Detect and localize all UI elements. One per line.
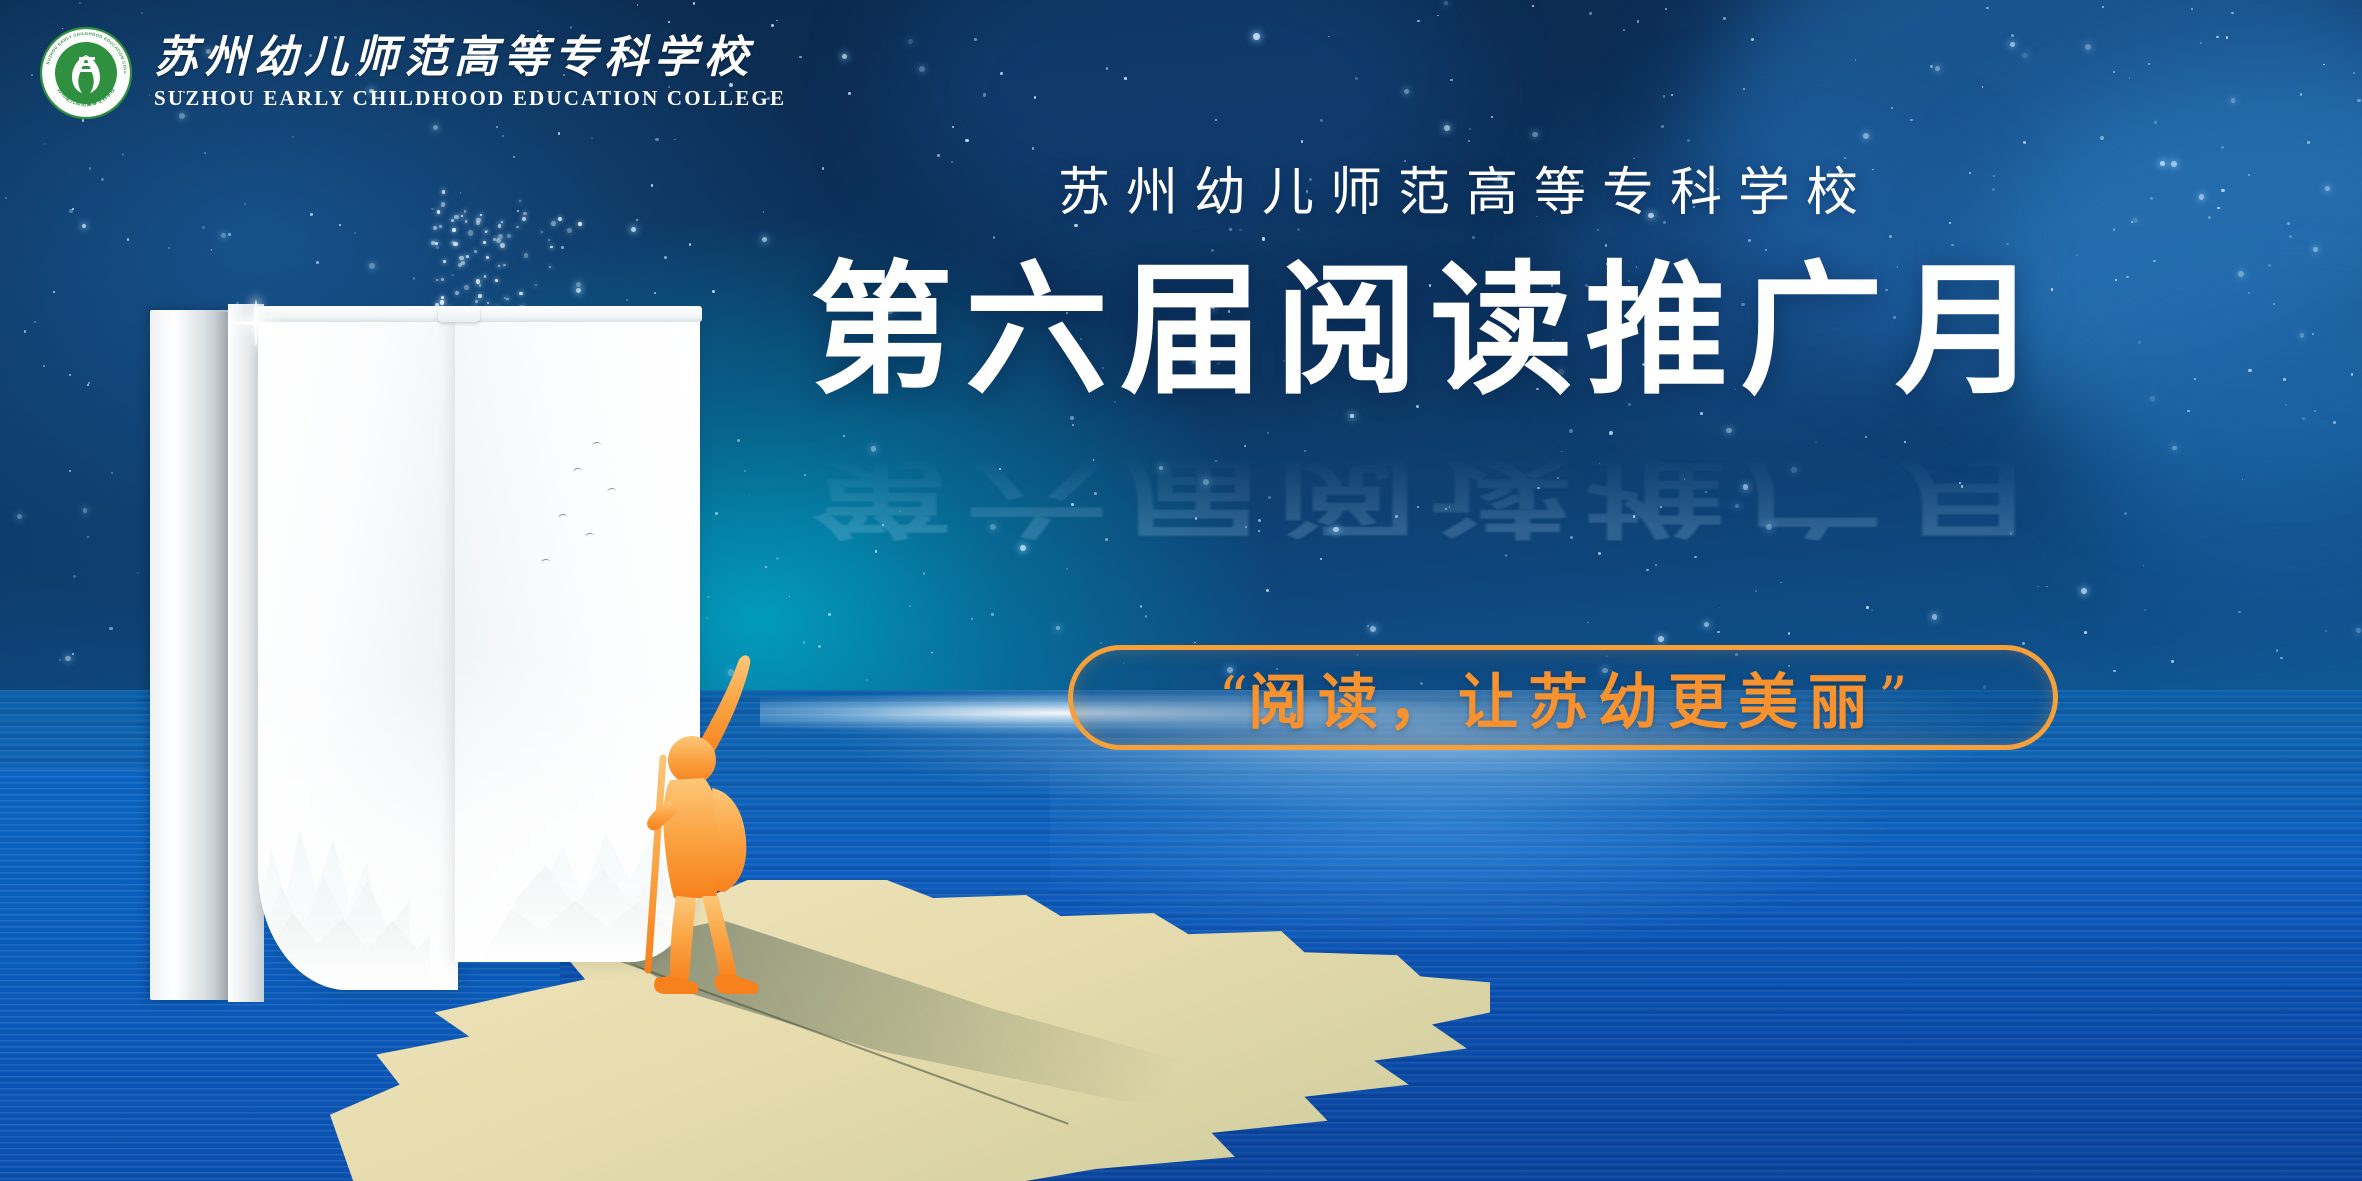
star-dot (636, 219, 638, 221)
star-dot (2356, 628, 2361, 633)
star-dot (1599, 463, 1601, 465)
sparkle-particle (464, 285, 469, 290)
star-dot (974, 38, 976, 40)
star-dot (204, 152, 206, 154)
star-dot (1910, 119, 1913, 122)
star-dot (59, 659, 61, 661)
star-dot (1159, 466, 1163, 470)
star-dot (2231, 12, 2234, 15)
bird-icon (592, 441, 601, 446)
star-dot (2323, 64, 2325, 66)
star-dot (2191, 8, 2193, 10)
sparkle-particle (437, 210, 441, 214)
star-dot (1537, 487, 1540, 490)
bird-icon (585, 532, 594, 537)
sparkle-particle (524, 253, 528, 257)
star-dot (971, 618, 973, 620)
star-dot (1367, 625, 1369, 627)
star-dot (1569, 429, 1573, 433)
star-dot (436, 246, 439, 249)
star-dot (1215, 460, 1217, 462)
star-dot (53, 291, 55, 293)
star-dot (1863, 133, 1869, 139)
sparkle-particle (454, 215, 459, 220)
star-dot (1663, 95, 1666, 98)
sparkle-particle (567, 228, 572, 233)
star-dot (2333, 421, 2336, 424)
star-dot (1609, 431, 1613, 435)
star-dot (1505, 554, 1508, 557)
star-dot (1140, 605, 1143, 608)
sparkle-particle (548, 239, 550, 241)
star-dot (1671, 94, 1673, 96)
star-dot (1444, 1, 1449, 6)
star-dot (1871, 609, 1873, 611)
star-dot (1637, 20, 1640, 23)
sparkle-particle (441, 296, 444, 299)
star-dot (1532, 5, 1534, 7)
star-dot (1982, 86, 1984, 88)
star-dot (1815, 441, 1818, 444)
star-dot (1105, 538, 1108, 541)
sparkle-particle (461, 261, 466, 266)
star-dot (776, 557, 779, 560)
star-dot (631, 227, 636, 232)
star-dot (2200, 42, 2203, 45)
star-dot (354, 232, 357, 235)
sparkle-particle (442, 190, 446, 194)
logo-name-en: SUZHOU EARLY CHILDHOOD EDUCATION COLLEGE (154, 86, 786, 111)
sparkle-particle (436, 279, 439, 282)
star-dot (749, 494, 751, 496)
star-dot (1094, 492, 1097, 495)
sparkle-particle (500, 243, 505, 248)
star-dot (1665, 8, 1667, 10)
sparkle-particle (455, 291, 459, 295)
sparkle-particle (498, 265, 500, 267)
star-dot (1780, 582, 1782, 584)
star-dot (882, 524, 884, 526)
star-dot (17, 514, 22, 519)
star-dot (674, 139, 676, 141)
star-dot (2242, 479, 2244, 481)
star-dot (923, 572, 925, 574)
star-dot (2325, 186, 2330, 191)
star-dot (122, 153, 125, 156)
star-dot (1301, 140, 1303, 142)
star-dot (1866, 606, 1869, 609)
sparkle-particle (498, 224, 501, 227)
star-dot (654, 292, 656, 294)
star-dot (413, 277, 416, 280)
sparkle-particle (468, 230, 473, 235)
star-dot (2314, 410, 2316, 412)
sparkle-particle (519, 200, 521, 202)
tagline-pill: “ 阅读，让苏幼更美丽 ” (1068, 645, 2058, 750)
star-dot (763, 211, 765, 213)
star-dot (2010, 42, 2015, 47)
sparkle-particle (478, 294, 482, 298)
star-dot (558, 132, 561, 135)
star-dot (848, 92, 851, 95)
star-dot (1445, 508, 1447, 510)
star-dot (1469, 128, 1471, 130)
star-dot (952, 126, 954, 128)
star-dot (69, 209, 73, 213)
star-dot (1333, 527, 1338, 532)
star-dot (1093, 459, 1095, 461)
star-dot (2124, 512, 2127, 515)
star-dot (1935, 66, 1940, 71)
star-dot (1633, 515, 1636, 518)
sparkle-particle (465, 220, 468, 223)
star-dot (1561, 451, 1563, 453)
sparkle-particle (485, 230, 488, 233)
star-dot (991, 613, 994, 616)
star-dot (1705, 491, 1707, 493)
star-dot (2238, 611, 2240, 613)
star-dot (804, 474, 806, 476)
sparkle-particle (535, 284, 537, 286)
star-dot (1320, 119, 1323, 122)
star-dot (803, 641, 806, 644)
star-dot (1788, 632, 1790, 634)
star-dot (2113, 71, 2115, 73)
sparkle-particle (495, 279, 498, 282)
sparkle-particle (486, 256, 489, 259)
logo-wordmark: 苏州幼儿师范高等专科学校 SUZHOU EARLY CHILDHOOD EDUC… (154, 35, 786, 110)
star-dot (88, 382, 90, 384)
star-dot (1986, 7, 1988, 9)
star-dot (875, 550, 878, 553)
star-dot (2129, 77, 2131, 79)
star-dot (1449, 506, 1451, 508)
star-dot (693, 2, 696, 5)
star-dot (1034, 96, 1036, 98)
sparkle-particle (496, 238, 501, 243)
star-dot (79, 2, 81, 4)
star-dot (899, 510, 902, 513)
star-dot (744, 470, 746, 472)
star-dot (1320, 558, 1322, 560)
star-dot (1194, 642, 1196, 644)
star-dot (2353, 72, 2355, 74)
reading-promotion-banner: SUZHOU EARLY CHILDHOOD EDUCATION COLLEGE… (0, 0, 2362, 1181)
star-dot (919, 66, 925, 72)
star-dot (1145, 615, 1147, 617)
sparkle-particle (523, 212, 527, 216)
star-dot (1072, 424, 1074, 426)
sparkle-star-icon (255, 322, 257, 324)
star-dot (2307, 141, 2310, 144)
star-dot (244, 203, 246, 205)
star-dot (137, 572, 139, 574)
sparkle-particle (578, 222, 583, 227)
sparkle-particle (443, 260, 446, 263)
star-dot (576, 288, 582, 294)
star-dot (34, 321, 36, 323)
star-dot (2143, 565, 2145, 567)
sparkle-particle (441, 202, 446, 207)
sparkle-particle (439, 225, 442, 228)
star-dot (2010, 532, 2013, 535)
star-dot (990, 524, 996, 530)
star-dot (1437, 15, 1439, 17)
star-dot (1355, 77, 1358, 80)
star-dot (2154, 121, 2157, 124)
star-dot (2148, 63, 2150, 65)
star-dot (1694, 556, 1697, 559)
star-dot (2085, 44, 2091, 50)
star-dot (1244, 445, 1246, 447)
sparkle-particle (522, 217, 527, 222)
star-dot (689, 243, 691, 245)
star-dot (2084, 631, 2087, 634)
star-dot (1704, 622, 1709, 627)
star-dot (69, 470, 71, 472)
star-dot (909, 605, 911, 607)
star-dot (651, 184, 653, 186)
star-dot (1258, 530, 1260, 532)
star-dot (712, 290, 715, 293)
star-dot (1253, 33, 1260, 40)
star-dot (1056, 626, 1061, 631)
star-dot (2172, 446, 2177, 451)
star-dot (141, 12, 143, 14)
star-dot (561, 246, 564, 249)
sparkle-particle (466, 255, 469, 258)
star-dot (2023, 141, 2026, 144)
star-dot (762, 237, 767, 242)
sparkle-particle (431, 241, 435, 245)
star-dot (1350, 414, 1354, 418)
sparkle-particle (483, 241, 486, 244)
star-dot (433, 125, 438, 130)
star-dot (1020, 545, 1026, 551)
sparkle-particle (458, 263, 462, 267)
star-dot (1258, 519, 1261, 522)
star-dot (2081, 588, 2087, 594)
star-dot (202, 226, 205, 229)
star-dot (1404, 89, 1409, 94)
logo-name-cn: 苏州幼儿师范高等专科学校 (154, 35, 786, 81)
hiker-silhouette-icon (620, 640, 800, 1020)
star-dot (2046, 586, 2048, 588)
star-dot (1417, 506, 1419, 508)
star-dot (1450, 79, 1453, 82)
sparkle-particle (507, 234, 511, 238)
star-dot (871, 446, 877, 452)
star-dot (1587, 622, 1589, 624)
book-left-page (258, 318, 458, 990)
bird-icon (558, 513, 567, 518)
star-dot (89, 167, 92, 170)
star-dot (576, 282, 581, 287)
star-dot (310, 213, 312, 215)
star-dot (2300, 93, 2303, 96)
star-dot (818, 645, 821, 648)
star-dot (1557, 477, 1559, 479)
sparkle-particle (541, 231, 543, 233)
star-dot (1304, 450, 1306, 452)
star-dot (87, 536, 89, 538)
star-dot (2144, 609, 2146, 611)
sparkle-particle (501, 221, 503, 223)
sparkle-particle (459, 256, 464, 261)
tagline-text: 阅读，让苏幼更美丽 (1248, 654, 1878, 741)
star-dot (109, 627, 113, 631)
star-dot (2351, 373, 2353, 375)
star-dot (983, 93, 987, 97)
sparkle-particle (550, 246, 553, 249)
star-dot (517, 210, 519, 212)
star-dot (965, 139, 968, 142)
star-dot (2280, 657, 2283, 660)
sparkle-particle (493, 238, 496, 241)
star-dot (1070, 416, 1074, 420)
star-dot (127, 238, 130, 241)
sparkle-particle (504, 297, 507, 300)
star-dot (2221, 146, 2224, 149)
star-dot (2100, 136, 2104, 140)
star-dot (1687, 139, 1690, 142)
college-logo[interactable]: SUZHOU EARLY CHILDHOOD EDUCATION COLLEGE… (38, 25, 786, 121)
star-dot (1751, 38, 1754, 41)
star-dot (828, 613, 831, 616)
star-dot (1961, 485, 1963, 487)
star-dot (1532, 132, 1538, 138)
star-dot (1743, 484, 1748, 489)
star-dot (1468, 140, 1470, 142)
star-dot (31, 74, 33, 76)
sparkle-particle (484, 275, 486, 277)
star-dot (1684, 478, 1686, 480)
star-dot (1726, 428, 1732, 434)
star-dot (1623, 29, 1625, 31)
star-dot (1959, 482, 1961, 484)
star-dot (1904, 441, 1906, 443)
star-dot (369, 263, 375, 269)
sparkle-particle (464, 210, 466, 212)
star-dot (168, 247, 170, 249)
bird-icon (607, 487, 616, 492)
sparkle-particle (549, 266, 551, 268)
star-dot (221, 233, 226, 238)
sparkle-particle (453, 242, 458, 247)
star-dot (2216, 36, 2219, 39)
star-dot (1570, 536, 1573, 539)
star-dot (799, 56, 802, 59)
sparkle-particle (551, 221, 556, 226)
star-dot (776, 20, 778, 22)
star-dot (87, 384, 89, 386)
quote-close-icon: ” (1878, 664, 1908, 732)
bird-icon (572, 467, 581, 472)
sparkle-particle (503, 264, 506, 267)
star-dot (637, 4, 639, 6)
star-dot (228, 233, 231, 236)
star-dot (908, 39, 913, 44)
star-dot (1719, 607, 1721, 609)
sparkle-particle (435, 242, 438, 245)
sparkle-particle (433, 226, 437, 230)
star-dot (1930, 65, 1933, 68)
banner-text-block: 苏州幼儿师范高等专科学校 第六届阅读推广月 第六届阅读推广月 “ 阅读，让苏幼更… (820, 150, 2320, 407)
star-dot (502, 135, 504, 137)
star-dot (24, 330, 26, 332)
star-dot (2231, 98, 2236, 103)
star-dot (431, 208, 433, 210)
sparkle-particle (461, 215, 463, 217)
star-dot (211, 249, 213, 251)
sparkle-particle (441, 278, 444, 281)
ink-mist (258, 667, 458, 990)
sparkle-particle (516, 226, 519, 229)
star-dot (292, 136, 294, 138)
star-dot (1589, 12, 1592, 15)
star-dot (1743, 88, 1746, 91)
star-dot (101, 178, 104, 181)
bird-icon (541, 558, 550, 563)
star-dot (65, 656, 71, 662)
sparkle-particle (476, 221, 480, 225)
star-dot (2325, 630, 2327, 632)
star-dot (1266, 589, 1269, 592)
star-dot (82, 224, 86, 228)
star-dot (1658, 636, 1664, 642)
star-dot (1660, 506, 1662, 508)
star-dot (451, 274, 454, 277)
star-dot (2302, 417, 2305, 420)
star-dot (339, 224, 341, 226)
sparkle-particle (451, 219, 454, 222)
star-dot (1755, 590, 1757, 592)
star-dot (2171, 660, 2174, 663)
star-dot (1066, 568, 1068, 570)
star-dot (789, 596, 791, 598)
school-name-line: 苏州幼儿师范高等专科学校 (1058, 150, 2320, 225)
star-dot (2276, 649, 2279, 652)
star-dot (1865, 436, 1867, 438)
star-dot (1646, 569, 1649, 572)
star-dot (842, 54, 847, 59)
headline-reflection: 第六届阅读推广月 (810, 448, 2050, 542)
star-dot (737, 439, 740, 442)
star-dot (72, 208, 74, 210)
star-dot (1215, 119, 1217, 121)
book-spine-tab (438, 306, 480, 322)
star-dot (591, 137, 593, 139)
star-dot (316, 261, 319, 264)
star-dot (1661, 125, 1664, 128)
star-dot (1655, 564, 1657, 566)
star-dot (44, 143, 46, 145)
star-dot (1598, 552, 1601, 555)
star-dot (2102, 6, 2104, 8)
college-seal-icon: SUZHOU EARLY CHILDHOOD EDUCATION COLLEGE… (38, 25, 134, 121)
star-dot (43, 365, 45, 367)
star-dot (1000, 72, 1003, 75)
star-dot (460, 192, 462, 194)
star-dot (513, 156, 515, 158)
star-dot (1766, 524, 1772, 530)
star-dot (1444, 125, 1450, 131)
star-dot (496, 126, 498, 128)
star-dot (1203, 479, 1209, 485)
star-dot (72, 653, 74, 655)
star-dot (2022, 53, 2028, 59)
star-dot (1855, 59, 1857, 61)
